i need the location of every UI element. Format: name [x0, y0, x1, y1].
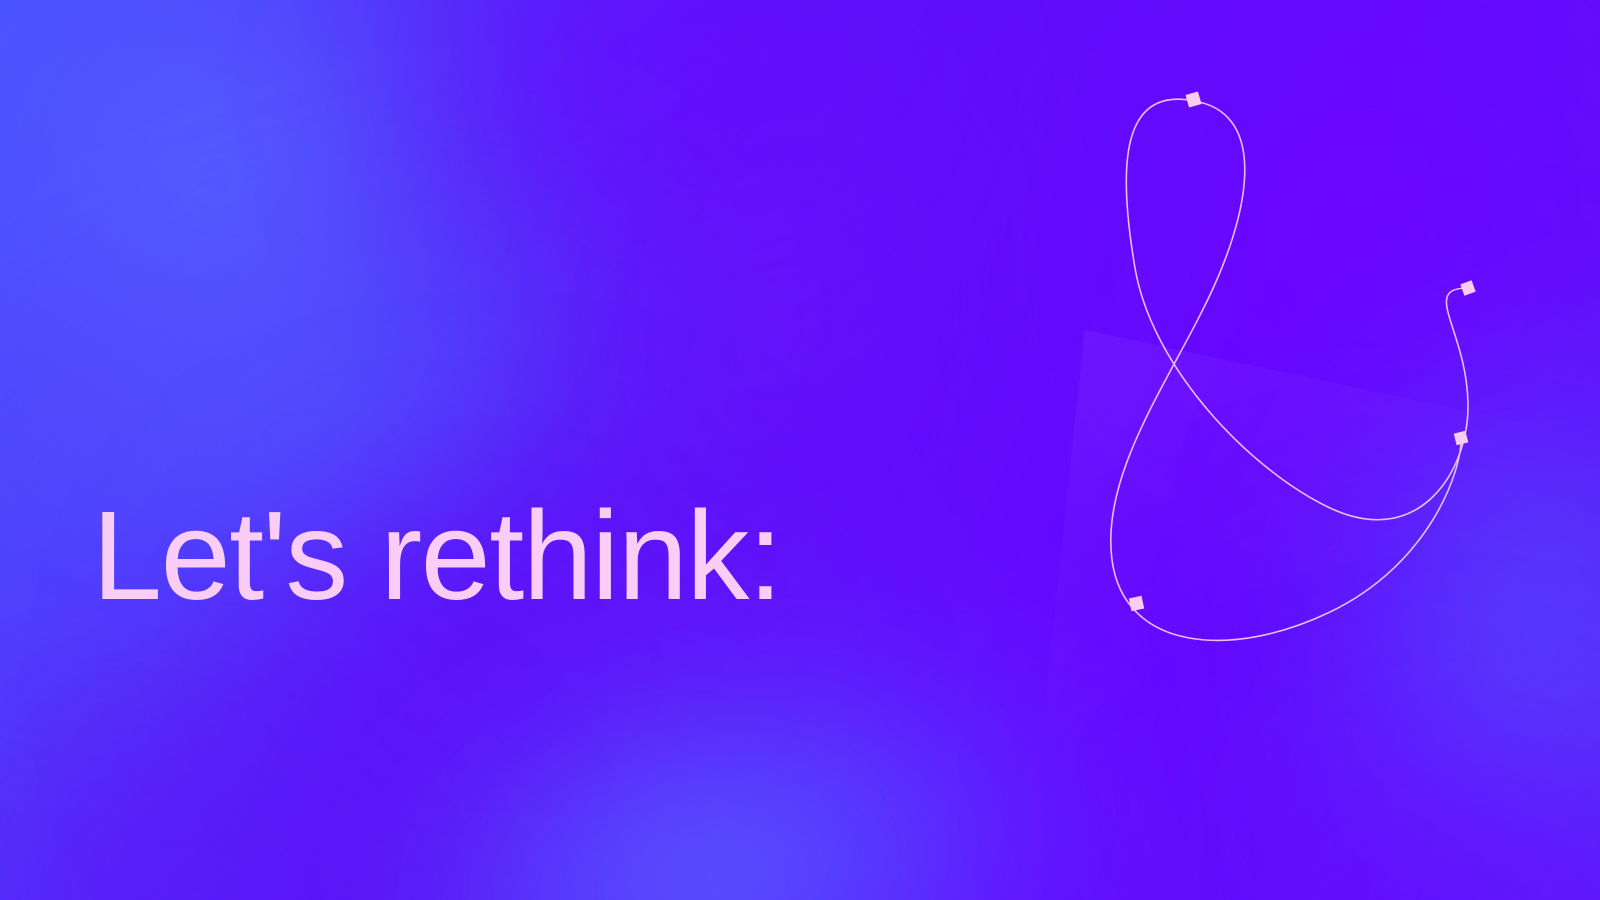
headline-segment-digital: digital	[766, 878, 1127, 900]
headline-line-2: A vision for digital	[92, 883, 1126, 900]
headline-segment-vision: vision	[201, 878, 556, 900]
hero-banner: Let's rethink: A vision for digital plat…	[0, 0, 1600, 900]
headline-segment-for: for	[556, 878, 766, 900]
headline-segment-a: A	[92, 878, 201, 900]
hero-headline: Let's rethink: A vision for digital plat…	[92, 228, 1126, 900]
headline-line-1: Let's rethink:	[92, 490, 1126, 621]
